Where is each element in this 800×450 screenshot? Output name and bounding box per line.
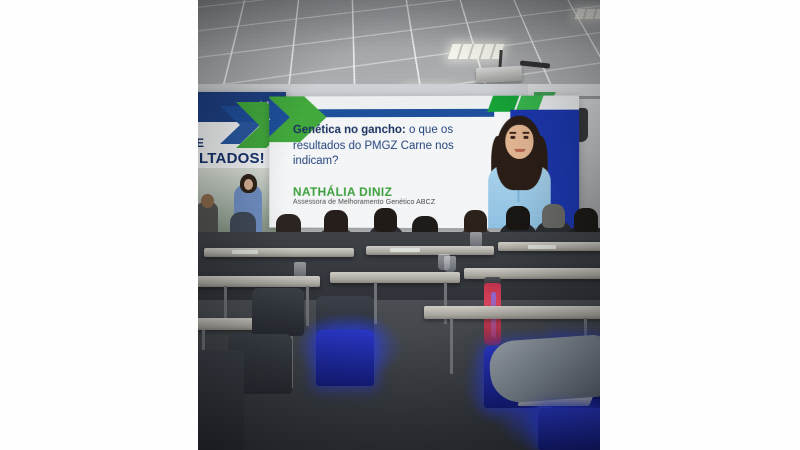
ceiling-light-panel xyxy=(448,44,505,59)
presenter-face xyxy=(505,125,533,159)
audience-member-head xyxy=(506,206,530,230)
folded-jacket xyxy=(488,334,600,404)
presenter-eye xyxy=(523,136,528,139)
drinking-cup xyxy=(294,262,306,278)
banner-person-face xyxy=(244,179,253,190)
table xyxy=(204,248,354,257)
paper-sheet xyxy=(390,248,420,252)
audience-member-head xyxy=(374,208,397,232)
banner-person-head xyxy=(201,194,214,208)
presenter-eyebrow xyxy=(509,132,516,134)
presenter-eye xyxy=(510,136,515,139)
presenter-eyebrow xyxy=(522,132,529,134)
chair-blue-lit xyxy=(316,330,374,386)
conference-photo: Alta E ULTADOS! Genética no gancho xyxy=(198,0,600,450)
ceiling-light-panel xyxy=(575,9,600,19)
table-leg xyxy=(374,282,377,324)
slide-presenter-name: NATHÁLIA DINIZ xyxy=(293,185,392,199)
drinking-cup xyxy=(470,232,482,248)
chair xyxy=(198,350,244,450)
table-leg xyxy=(450,318,453,374)
presenter-mouth xyxy=(514,149,525,152)
slide-title: Genética no gancho: o que os resultados … xyxy=(293,123,472,170)
audience-member-head xyxy=(542,204,565,228)
table-leg xyxy=(306,286,309,326)
chair xyxy=(252,288,304,336)
screenshot-canvas: Alta E ULTADOS! Genética no gancho xyxy=(0,0,800,450)
projection-screen: Genética no gancho: o que os resultados … xyxy=(269,95,579,228)
chair-blue-lit xyxy=(538,408,600,450)
paper-sheet xyxy=(528,245,556,249)
ceiling-projector xyxy=(476,66,523,83)
banner-line-2: ULTADOS! xyxy=(198,150,265,167)
slide-presenter-role: Assessora de Melhoramento Genético ABCZ xyxy=(293,199,435,206)
drinking-cup xyxy=(444,256,456,272)
banner-line-1: E xyxy=(198,136,204,150)
audience-member-head xyxy=(574,208,598,233)
paper-sheet xyxy=(232,250,258,254)
table xyxy=(330,272,460,283)
slide-title-bold: Genética no gancho: xyxy=(293,124,406,136)
